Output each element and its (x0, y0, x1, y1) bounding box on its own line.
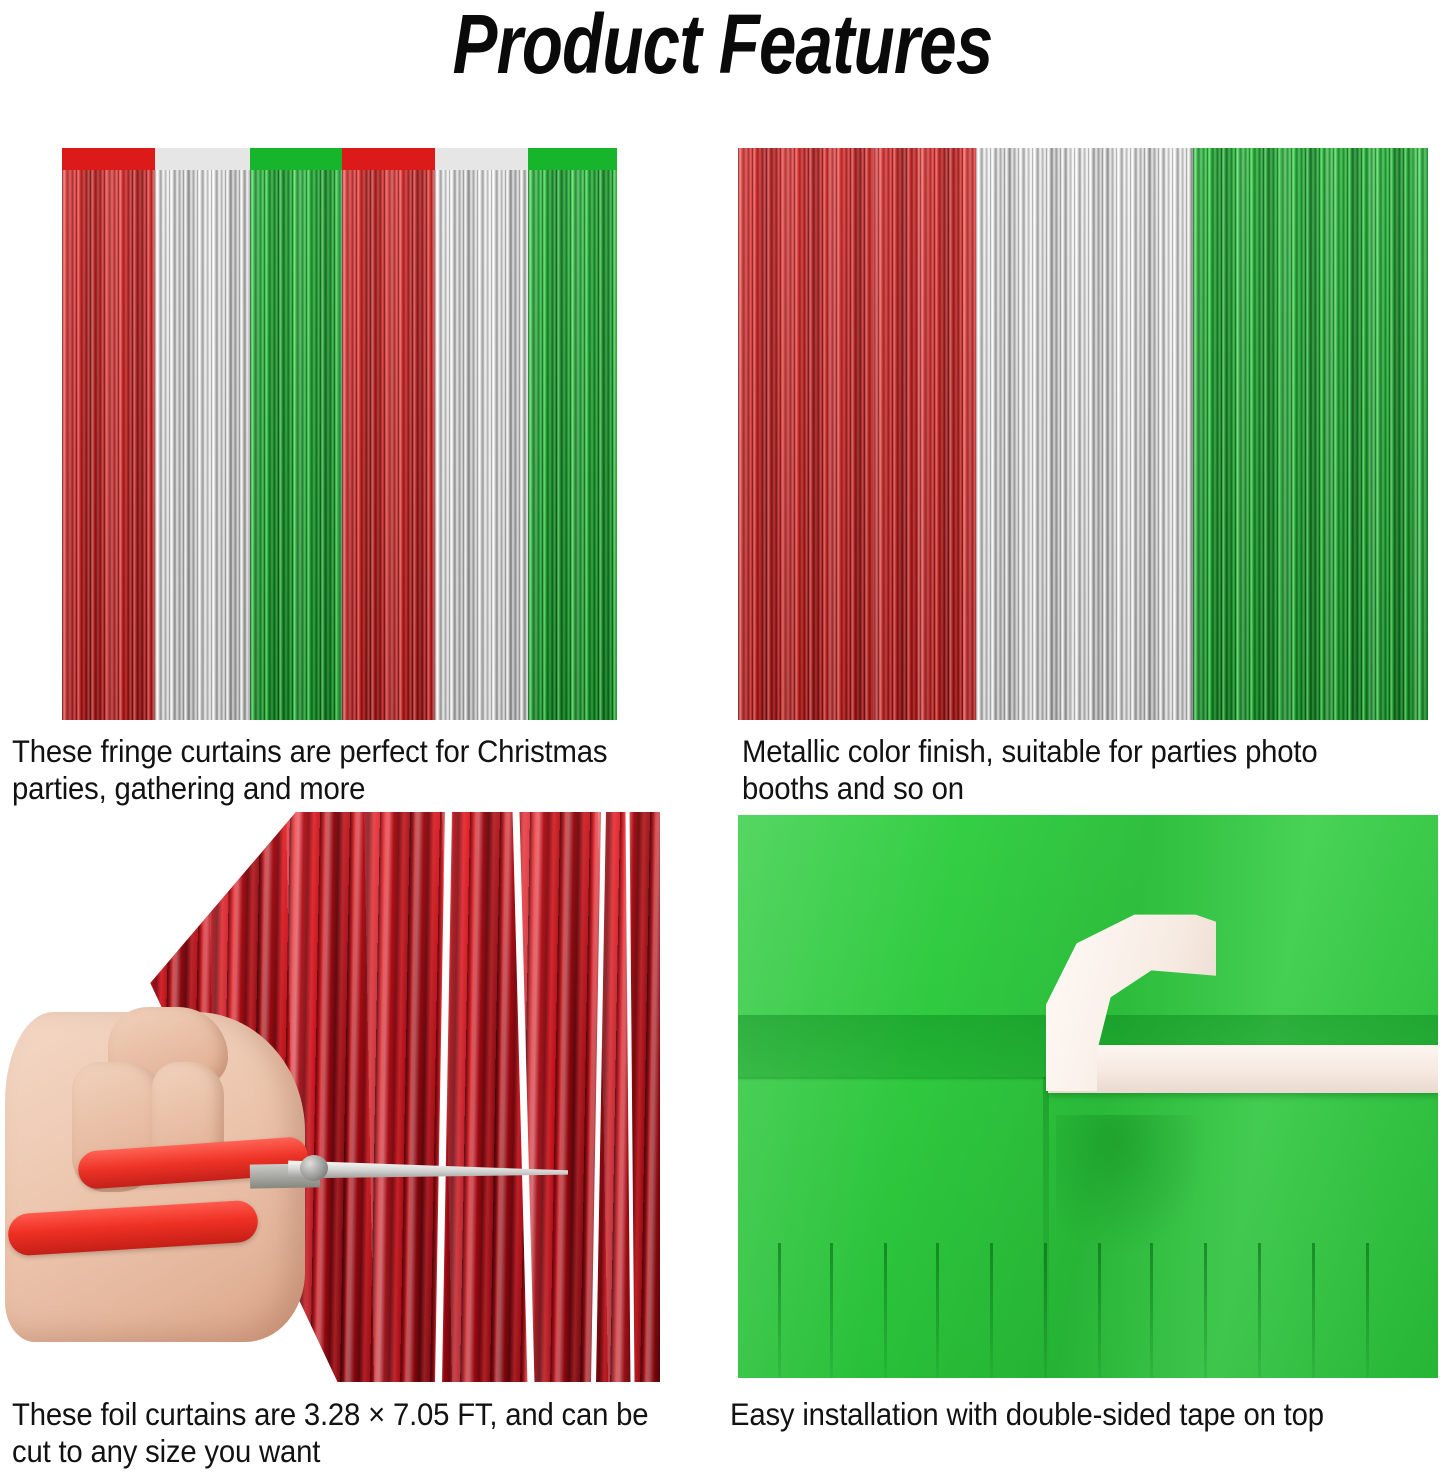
curtain-header-bar (155, 148, 250, 170)
curtain-header-bar (435, 148, 527, 170)
fringe-cut (884, 1243, 887, 1378)
curtain-panel-red-1 (62, 148, 155, 720)
fringe-curtain-six-panels-photo (62, 148, 617, 720)
feature-caption-2: Metallic color finish, suitable for part… (742, 733, 1393, 807)
curtain-panel-red (738, 148, 976, 720)
fringe-cut (1204, 1243, 1207, 1378)
metallic-finish-closeup-photo (738, 148, 1428, 720)
curtain-panel-silver-2 (435, 148, 527, 720)
fringe-cut-lines (738, 1243, 1438, 1378)
foil-strands (528, 148, 617, 720)
curtain-panel-silver-1 (155, 148, 250, 720)
fringe-cut (1312, 1243, 1315, 1378)
fringe-cut (830, 1243, 833, 1378)
foil-strands (435, 148, 527, 720)
fringe-cut (1258, 1243, 1261, 1378)
curtain-panel-green (1193, 148, 1428, 720)
feature-caption-1: These fringe curtains are perfect for Ch… (12, 733, 663, 807)
fringe-cut (1150, 1243, 1153, 1378)
feature-caption-3: These foil curtains are 3.28 × 7.05 FT, … (12, 1396, 663, 1470)
feature-caption-4: Easy installation with double-sided tape… (730, 1396, 1395, 1433)
curtain-header-bar (528, 148, 617, 170)
tape-shadow (1056, 1115, 1206, 1255)
green-curtain-scene (738, 815, 1438, 1378)
curtain-panel-green-1 (250, 148, 342, 720)
double-sided-tape-strip (1048, 1045, 1438, 1093)
fringe-cut (1044, 1243, 1047, 1378)
curtain-header-bar (342, 148, 435, 170)
scissors-pivot-screw (300, 1155, 328, 1181)
scissors-cutting-red-foil-photo (0, 812, 660, 1382)
fringe-cut (990, 1243, 993, 1378)
curtain-panel-silver (976, 148, 1193, 720)
foil-strands (62, 148, 155, 720)
features-grid: These fringe curtains are perfect for Ch… (0, 0, 1445, 1472)
curtain-header-bar (250, 148, 342, 170)
foil-strands (738, 148, 976, 720)
curtain-header-bar (62, 148, 155, 170)
double-sided-tape-on-green-curtain-photo (738, 815, 1438, 1378)
fringe-cut (1098, 1243, 1101, 1378)
fringe-cut (1366, 1243, 1369, 1378)
foil-strands (976, 148, 1193, 720)
foil-strands (155, 148, 250, 720)
foil-strands (342, 148, 435, 720)
curtain-panel-green-2 (528, 148, 617, 720)
curtain-panel-row (62, 148, 617, 720)
scissors-scene (0, 812, 660, 1382)
fringe-cut (936, 1243, 939, 1378)
foil-strands (250, 148, 342, 720)
curtain-panel-red-2 (342, 148, 435, 720)
foil-strands (1193, 148, 1428, 720)
curtain-panel-row (738, 148, 1428, 720)
fringe-cut (778, 1243, 781, 1378)
